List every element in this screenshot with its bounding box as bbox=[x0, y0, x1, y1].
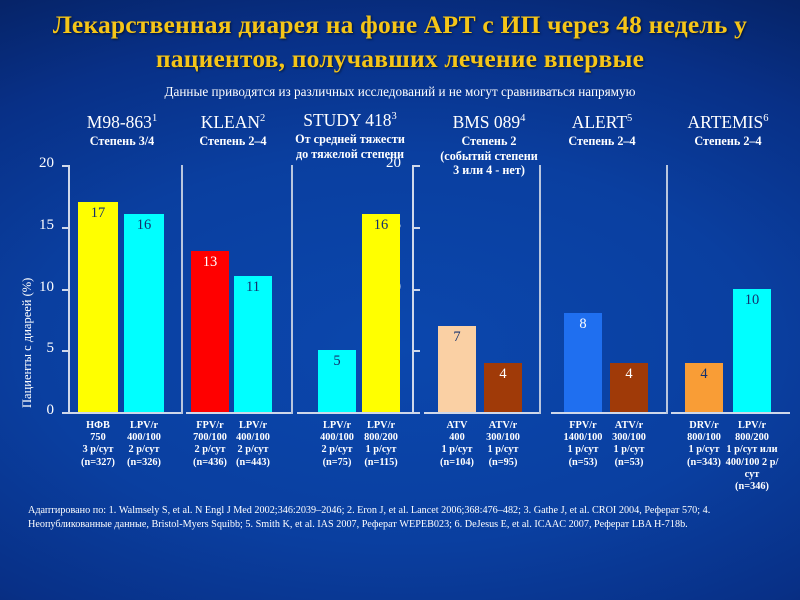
y-tick-label-left: 10 bbox=[28, 279, 54, 296]
group-subtitle: Степень 2–4 bbox=[158, 134, 308, 149]
x-axis-baseline bbox=[671, 412, 790, 414]
x-axis-baseline bbox=[186, 412, 291, 414]
group-subtitle: Степень 2–4 bbox=[653, 134, 800, 149]
bar-value-label: 11 bbox=[234, 279, 272, 296]
bar-fpv-r-13: 13 bbox=[191, 251, 229, 412]
group-title-superscript: 5 bbox=[627, 113, 632, 124]
group-separator bbox=[666, 165, 668, 414]
bar-value-label: 5 bbox=[318, 353, 356, 370]
y-tick-mark-middle bbox=[414, 350, 420, 352]
x-axis-baseline bbox=[297, 412, 412, 414]
bar-lpv-r-10: 10 bbox=[733, 289, 771, 413]
x-axis-baseline bbox=[551, 412, 666, 414]
bar-lpv-r-5: 5 bbox=[318, 350, 356, 412]
group-separator bbox=[291, 165, 293, 414]
y-axis-left bbox=[68, 165, 70, 414]
slide-title: Лекарственная диарея на фоне АРТ с ИП че… bbox=[20, 8, 780, 76]
x-axis-baseline bbox=[68, 412, 181, 414]
x-axis-label: ATV/r300/1001 р/сут(n=53) bbox=[601, 420, 657, 469]
bar-value-label: 16 bbox=[124, 217, 164, 234]
bar-value-label: 8 bbox=[564, 316, 602, 333]
bar-lpv-r-16: 16 bbox=[362, 214, 400, 412]
group-separator bbox=[181, 165, 183, 414]
bar-value-label: 10 bbox=[733, 292, 771, 309]
bar-chart: Пациенты с диареей (%)0510152005101520M9… bbox=[0, 108, 800, 500]
bar-value-label: 4 bbox=[610, 366, 648, 383]
bar-fpv-r-8: 8 bbox=[564, 313, 602, 412]
bar-value-label: 4 bbox=[685, 366, 723, 383]
y-tick-label-left: 20 bbox=[28, 155, 54, 172]
group-title-superscript: 6 bbox=[763, 113, 768, 124]
bar-drv-r-4: 4 bbox=[685, 363, 723, 412]
bar-atv-r-4: 4 bbox=[484, 363, 522, 412]
bar---17: 17 bbox=[78, 202, 118, 412]
bar-value-label: 7 bbox=[438, 329, 476, 346]
bar-value-label: 17 bbox=[78, 205, 118, 222]
x-axis-label: LPV/r800/2001 р/сут(n=115) bbox=[353, 420, 409, 469]
group-subtitle: От средней тяжести до тяжелой степени bbox=[295, 132, 405, 161]
slide-subtitle: Данные приводятся из различных исследова… bbox=[40, 84, 760, 100]
bar-value-label: 13 bbox=[191, 254, 229, 271]
bar-atv-7: 7 bbox=[438, 326, 476, 412]
y-tick-mark-middle bbox=[414, 227, 420, 229]
bar-value-label: 16 bbox=[362, 217, 400, 234]
x-axis-label: LPV/r800/2001 р/сут или 400/100 2 р/сут(… bbox=[721, 420, 783, 493]
group-subtitle: Степень 2 (событий степени 3 или 4 - нет… bbox=[439, 134, 539, 178]
bar-lpv-r-11: 11 bbox=[234, 276, 272, 412]
x-axis-label: ATV/r300/1001 р/сут(n=95) bbox=[475, 420, 531, 469]
bar-lpv-r-16: 16 bbox=[124, 214, 164, 412]
bar-atv-r-4: 4 bbox=[610, 363, 648, 412]
y-tick-mark-middle bbox=[414, 412, 420, 414]
bar-value-label: 4 bbox=[484, 366, 522, 383]
y-tick-label-left: 15 bbox=[28, 217, 54, 234]
group-title-artemis: ARTEMIS6 bbox=[638, 112, 800, 133]
x-axis-baseline bbox=[424, 412, 539, 414]
y-tick-mark-middle bbox=[414, 165, 420, 167]
y-tick-mark-middle bbox=[414, 289, 420, 291]
footnote-references: Адаптировано по: 1. Walmsely S, et al. N… bbox=[28, 504, 772, 531]
group-title-superscript: 3 bbox=[392, 111, 397, 122]
group-separator bbox=[539, 165, 541, 414]
y-axis-middle bbox=[412, 165, 414, 414]
x-axis-label: LPV/r400/1002 р/сут(n=326) bbox=[116, 420, 172, 469]
y-tick-label-left: 5 bbox=[28, 340, 54, 357]
y-tick-label-left: 0 bbox=[28, 402, 54, 419]
slide-root: Лекарственная диарея на фоне АРТ с ИП че… bbox=[0, 0, 800, 600]
x-axis-label: LPV/r400/1002 р/сут(n=443) bbox=[225, 420, 281, 469]
